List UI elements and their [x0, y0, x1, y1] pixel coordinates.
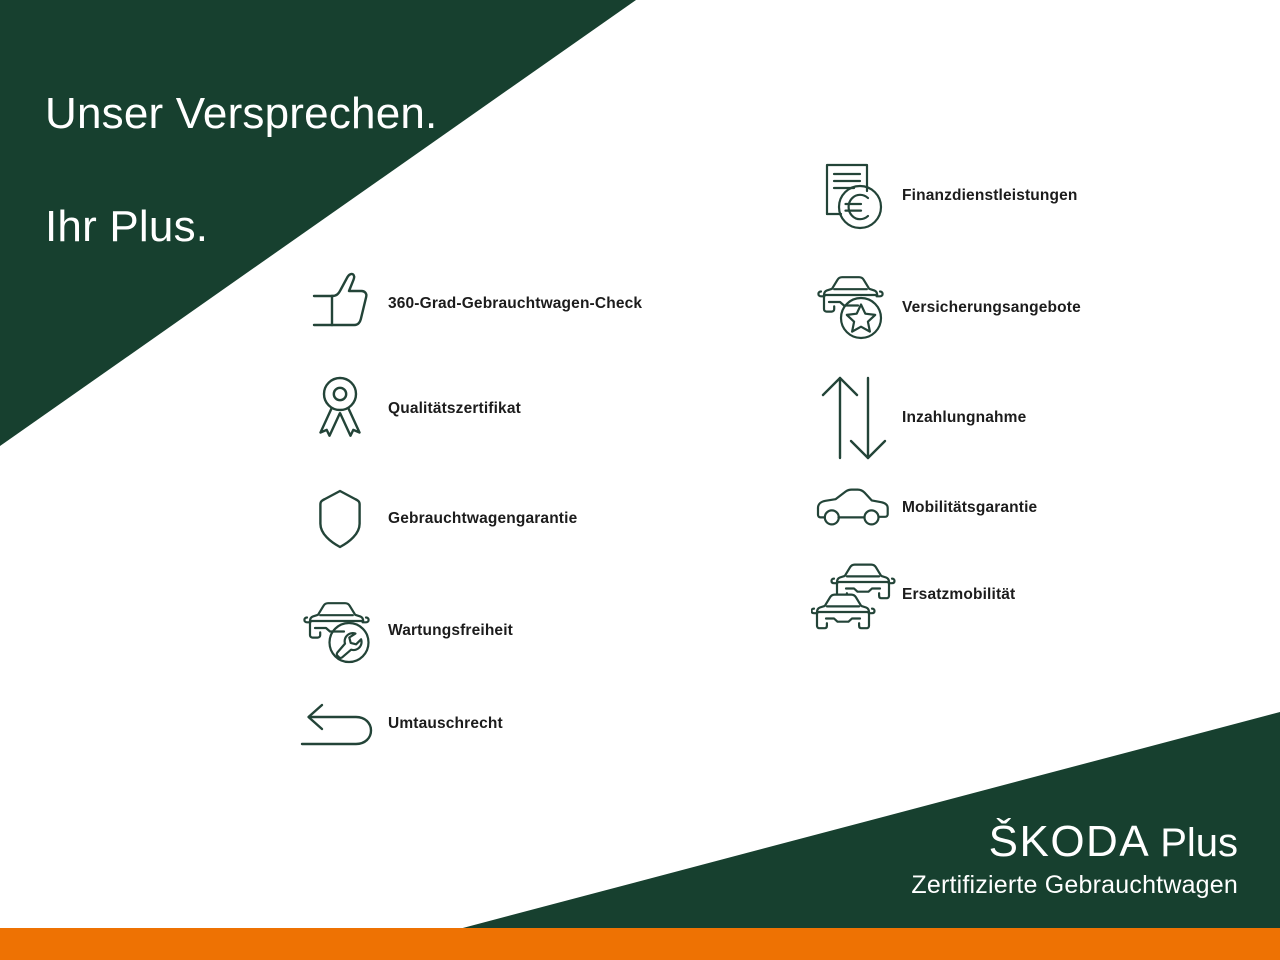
- feature-label: Versicherungsangebote: [902, 300, 1081, 316]
- logo-tagline: Zertifizierte Gebrauchtwagen: [911, 873, 1238, 898]
- logo-wordmark: ŠKODA Plus: [911, 820, 1238, 864]
- car-star-icon: [806, 268, 902, 348]
- orange-footer-bar: [0, 928, 1280, 960]
- car-side-icon: [806, 486, 902, 530]
- award-rosette-icon: [292, 373, 388, 445]
- promo-slide: Unser Versprechen. Ihr Plus. 360-Grad-Ge…: [0, 0, 1280, 960]
- thumbs-up-icon: [292, 268, 388, 340]
- feature-label: Inzahlungnahme: [902, 410, 1026, 426]
- feature-label: 360-Grad-Gebrauchtwagen-Check: [388, 296, 642, 312]
- shield-icon: [292, 483, 388, 555]
- feature-label: Ersatzmobilität: [902, 587, 1015, 603]
- car-wrench-icon: [292, 592, 388, 670]
- logo-brand-name: ŠKODA: [989, 820, 1151, 864]
- feature-label: Umtauschrecht: [388, 716, 503, 732]
- up-down-arrows-icon: [806, 372, 902, 464]
- page-title-line-1: Unser Versprechen.: [45, 86, 605, 142]
- brand-logo: ŠKODA Plus Zertifizierte Gebrauchtwagen: [911, 820, 1238, 898]
- feature-label: Finanzdienstleistungen: [902, 188, 1078, 204]
- feature-label: Mobilitätsgarantie: [902, 500, 1037, 516]
- document-euro-icon: [806, 156, 902, 236]
- logo-suffix: Plus: [1160, 823, 1238, 863]
- feature-label: Wartungsfreiheit: [388, 623, 513, 639]
- return-arrow-icon: [292, 696, 388, 752]
- feature-label: Qualitätszertifikat: [388, 401, 521, 417]
- two-cars-icon: [806, 552, 902, 638]
- feature-label: Gebrauchtwagengarantie: [388, 511, 577, 527]
- page-title-line-2: Ihr Plus.: [45, 199, 605, 255]
